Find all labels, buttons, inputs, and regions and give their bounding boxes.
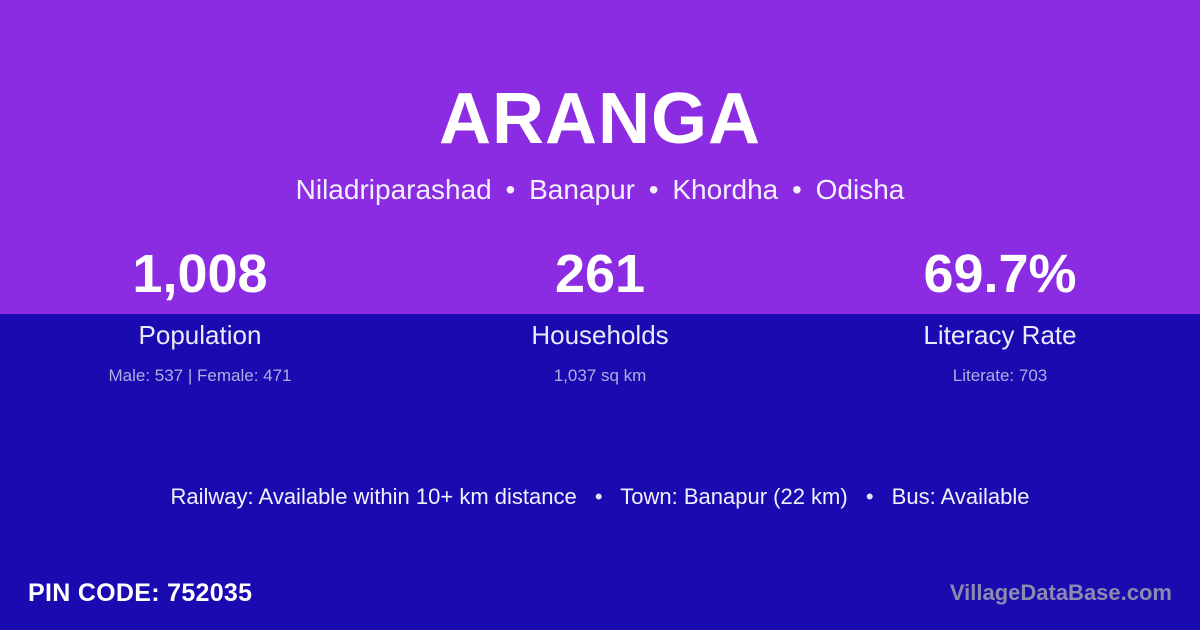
- stat-value: 69.7%: [800, 247, 1200, 301]
- card-header: ARANGA Niladriparashad • Banapur • Khord…: [0, 0, 1200, 204]
- amenity-railway: Railway: Available within 10+ km distanc…: [171, 484, 577, 509]
- pin-code: PIN CODE: 752035: [28, 581, 252, 606]
- stat-population: 1,008 Population Male: 537 | Female: 471: [0, 247, 400, 384]
- stat-value: 1,008: [0, 247, 400, 301]
- breadcrumb-district: Khordha: [672, 174, 778, 205]
- breadcrumb-separator: •: [786, 174, 808, 205]
- village-info-card: ARANGA Niladriparashad • Banapur • Khord…: [0, 0, 1200, 630]
- stat-label: Households: [400, 322, 800, 348]
- page-title: ARANGA: [0, 0, 1200, 155]
- amenity-bus: Bus: Available: [892, 484, 1030, 509]
- amenity-separator: •: [583, 484, 615, 509]
- amenities-line: Railway: Available within 10+ km distanc…: [0, 486, 1200, 508]
- stat-households: 261 Households 1,037 sq km: [400, 247, 800, 384]
- stats-row: 1,008 Population Male: 537 | Female: 471…: [0, 247, 1200, 384]
- amenity-town: Town: Banapur (22 km): [620, 484, 847, 509]
- stat-sublabel: 1,037 sq km: [400, 367, 800, 384]
- breadcrumb-state: Odisha: [816, 174, 905, 205]
- stat-value: 261: [400, 247, 800, 301]
- stat-sublabel: Literate: 703: [800, 367, 1200, 384]
- breadcrumb-separator: •: [500, 174, 522, 205]
- amenity-separator: •: [854, 484, 886, 509]
- stat-sublabel: Male: 537 | Female: 471: [0, 367, 400, 384]
- breadcrumb-block: Banapur: [529, 174, 635, 205]
- breadcrumb: Niladriparashad • Banapur • Khordha • Od…: [0, 155, 1200, 204]
- card-footer: PIN CODE: 752035 VillageDataBase.com: [0, 564, 1200, 630]
- breadcrumb-village: Niladriparashad: [296, 174, 492, 205]
- stat-literacy-rate: 69.7% Literacy Rate Literate: 703: [800, 247, 1200, 384]
- stat-label: Population: [0, 322, 400, 348]
- site-watermark: VillageDataBase.com: [950, 582, 1172, 604]
- stat-label: Literacy Rate: [800, 322, 1200, 348]
- breadcrumb-separator: •: [643, 174, 665, 205]
